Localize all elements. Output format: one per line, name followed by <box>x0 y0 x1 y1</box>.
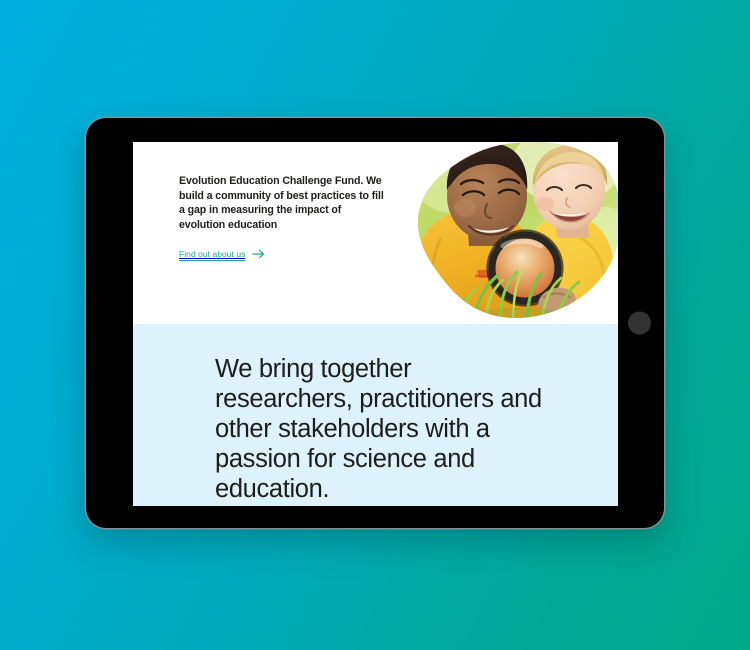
hero-text-block: Evolution Education Challenge Fund. We b… <box>179 174 384 262</box>
tablet-screen: Evolution Education Challenge Fund. We b… <box>133 142 618 506</box>
statement-headline: We bring together researchers, practitio… <box>215 354 545 504</box>
tablet-home-button[interactable] <box>628 312 651 335</box>
hero-headline: Evolution Education Challenge Fund. We b… <box>179 174 384 232</box>
arrow-right-icon <box>252 249 265 259</box>
hero-photo <box>417 142 618 324</box>
page-background: Evolution Education Challenge Fund. We b… <box>0 0 750 650</box>
statement-text-block: We bring together researchers, practitio… <box>215 354 545 506</box>
statement-section: We bring together researchers, practitio… <box>133 324 618 506</box>
tablet-device: Evolution Education Challenge Fund. We b… <box>86 118 664 528</box>
hero-section: Evolution Education Challenge Fund. We b… <box>133 142 618 324</box>
find-out-about-us-label: Find out about us <box>179 249 245 259</box>
find-out-about-us-link[interactable]: Find out about us <box>179 249 265 259</box>
